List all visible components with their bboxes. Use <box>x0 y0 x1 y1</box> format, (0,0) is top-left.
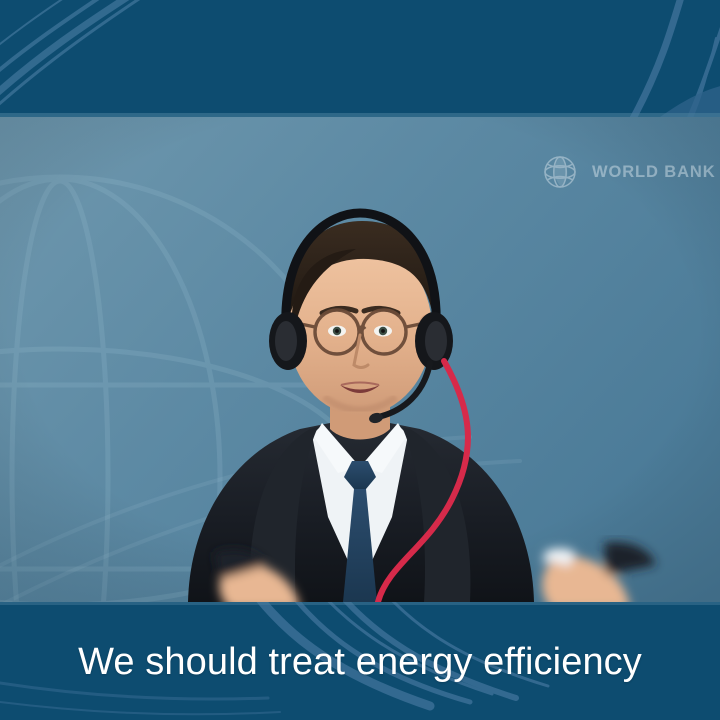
top-brand-band <box>0 0 720 117</box>
top-band-graphic <box>0 0 720 117</box>
video-viewport: WORLD BANK GR <box>0 117 720 602</box>
subtitle-caption: We should treat energy efficiency <box>0 642 720 684</box>
speaker-figure <box>0 117 720 602</box>
video-frame: WORLD BANK GR <box>0 0 720 720</box>
